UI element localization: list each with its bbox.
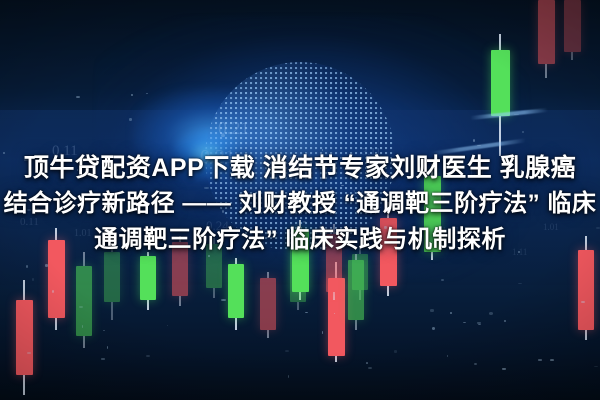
candle-body — [76, 266, 92, 336]
candlestick — [140, 252, 156, 310]
price-number: 0.21 — [200, 146, 235, 169]
spark-particle — [594, 366, 598, 367]
spark-particle — [581, 301, 585, 303]
spark-particle — [101, 358, 105, 359]
candle-body — [491, 50, 510, 116]
candle-body — [538, 0, 555, 64]
price-number: 1.01 — [74, 228, 92, 239]
price-number: 1.11 — [284, 166, 299, 176]
price-number: 1.01 — [250, 240, 266, 250]
spark-particle — [394, 350, 397, 352]
candle-body — [380, 218, 397, 286]
spark-particle — [502, 368, 506, 369]
price-number: 0.11 — [430, 190, 445, 200]
price-number: 3.11 — [362, 146, 381, 158]
candle-body — [140, 256, 156, 300]
spark-particle — [538, 359, 543, 361]
spark-particle — [415, 190, 417, 192]
spark-particle — [463, 322, 466, 323]
price-number: 1.01 — [136, 160, 152, 170]
price-number: 0.12 — [520, 168, 536, 178]
candle-body — [424, 176, 441, 252]
candlestick — [76, 252, 92, 348]
spark-particle — [550, 359, 553, 361]
spark-particle — [45, 264, 49, 266]
spark-particle — [129, 118, 131, 121]
candlestick — [348, 254, 364, 330]
candle-body — [16, 300, 33, 375]
candle-body — [104, 252, 120, 302]
candlestick — [564, 0, 581, 60]
candle-body — [260, 278, 276, 330]
candle-body — [48, 240, 65, 318]
candlestick — [172, 236, 188, 306]
candlestick — [16, 280, 33, 395]
spark-particle — [583, 202, 587, 203]
candlestick — [104, 244, 120, 320]
price-number: 0.11 — [52, 143, 78, 160]
price-number: 1.01 — [469, 167, 485, 177]
price-number: 1.01 — [442, 226, 460, 237]
candlestick — [578, 236, 594, 340]
candlestick — [228, 258, 244, 330]
candle-body — [290, 246, 306, 302]
spark-particle — [27, 209, 31, 211]
spark-particle — [303, 221, 306, 223]
price-number: 0.24 — [206, 218, 229, 234]
candle-body — [348, 260, 364, 320]
banner-image: 0.110.210.211.013.111.111.010.121.010.11… — [0, 0, 600, 400]
spark-particle — [473, 139, 475, 142]
candlestick — [326, 224, 342, 300]
spark-particle — [249, 98, 250, 101]
spark-particle — [24, 159, 28, 160]
price-number: 0.11 — [390, 238, 405, 248]
candlestick — [424, 164, 441, 260]
spark-particle — [430, 309, 433, 311]
candlestick — [206, 238, 222, 298]
candlestick — [260, 272, 276, 338]
candlestick — [491, 34, 510, 156]
candle-body — [206, 244, 222, 288]
price-number: 1.01 — [352, 188, 368, 198]
spark-particle — [305, 312, 308, 313]
price-number: 1.11 — [512, 247, 527, 257]
candle-body — [228, 264, 244, 318]
price-number: 0.11 — [20, 216, 39, 228]
spark-particle — [596, 227, 599, 229]
spark-particle — [384, 226, 386, 228]
candlestick — [290, 238, 306, 310]
spark-particle — [221, 299, 225, 301]
spark-particle — [285, 350, 289, 352]
spark-particle — [319, 226, 322, 229]
price-number: 1.01 — [478, 196, 494, 206]
spark-particle — [474, 363, 476, 365]
price-number: 1.01 — [543, 222, 559, 232]
spark-particle — [334, 313, 335, 314]
spark-particle — [52, 290, 54, 293]
candle-body — [172, 242, 188, 296]
candle-body — [578, 250, 594, 330]
spark-particle — [432, 327, 435, 330]
spark-particle — [82, 325, 83, 327]
candlestick — [380, 202, 397, 296]
candle-body — [564, 0, 581, 52]
spark-particle — [504, 320, 506, 322]
candlestick — [538, 0, 555, 78]
spark-particle — [522, 131, 523, 133]
price-number: 0.21 — [218, 118, 250, 139]
candle-body — [326, 234, 342, 292]
candlestick — [48, 228, 65, 330]
